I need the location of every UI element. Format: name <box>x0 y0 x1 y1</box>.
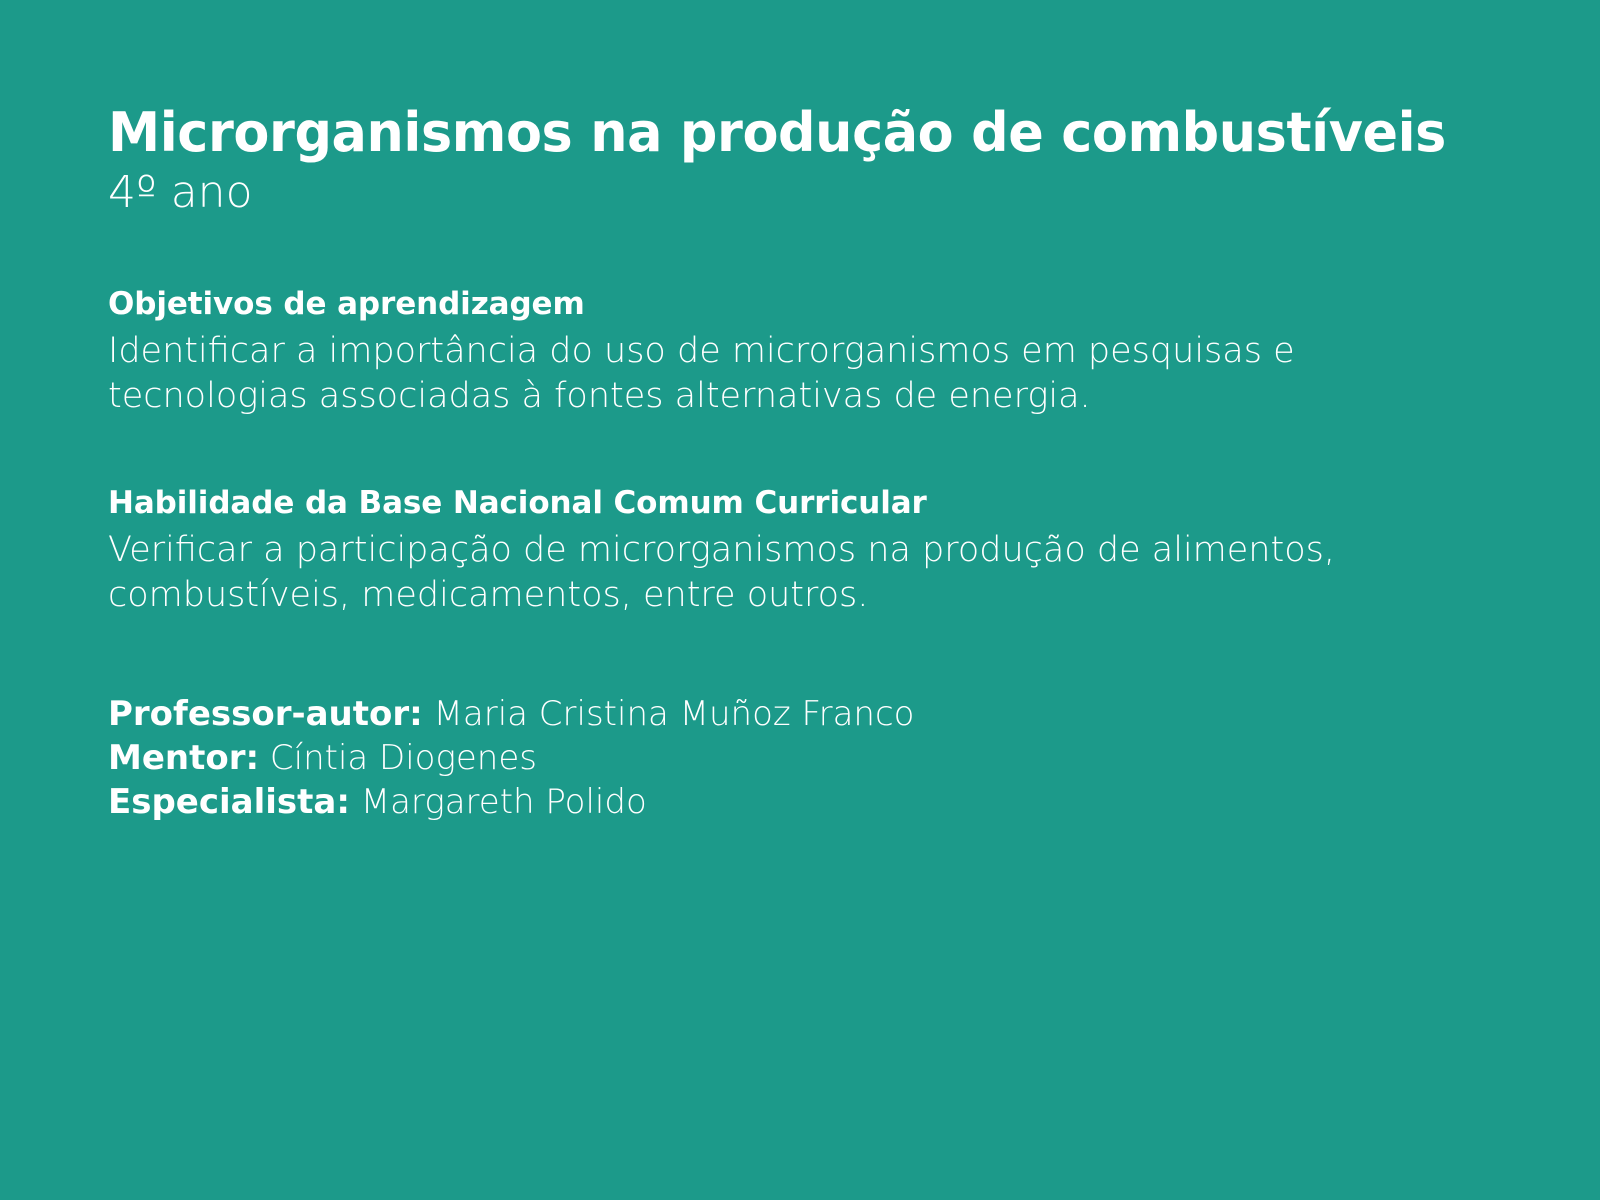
page-subtitle: 4º ano <box>108 166 1488 220</box>
credit-value-mentor: Cíntia Diogenes <box>270 738 537 778</box>
credits-block: Professor-autor: Maria Cristina Muñoz Fr… <box>108 692 1488 825</box>
credit-mentor: Mentor: Cíntia Diogenes <box>108 736 1488 780</box>
credit-label-professor-autor: Professor-autor: <box>108 694 423 734</box>
credit-value-especialista: Margareth Polido <box>361 782 647 822</box>
credit-especialista: Especialista: Margareth Polido <box>108 780 1488 824</box>
credit-label-mentor: Mentor: <box>108 738 259 778</box>
slide-canvas: Microrganismos na produção de combustíve… <box>0 0 1600 1200</box>
page-title: Microrganismos na produção de combustíve… <box>108 104 1447 162</box>
section-body-bncc: Verificar a participação de microrganism… <box>108 528 1378 618</box>
section-heading-objetivos: Objetivos de aprendizagem <box>108 286 1488 323</box>
section-body-objetivos: Identificar a importância do uso de micr… <box>108 329 1378 419</box>
credit-value-professor-autor: Maria Cristina Muñoz Franco <box>434 694 915 734</box>
section-objetivos: Objetivos de aprendizagem Identificar a … <box>108 286 1488 419</box>
credit-label-especialista: Especialista: <box>108 782 350 822</box>
slide-content: Microrganismos na produção de combustíve… <box>108 104 1488 824</box>
section-bncc: Habilidade da Base Nacional Comum Curric… <box>108 485 1488 618</box>
section-heading-bncc: Habilidade da Base Nacional Comum Curric… <box>108 485 1488 522</box>
credit-professor-autor: Professor-autor: Maria Cristina Muñoz Fr… <box>108 692 1488 736</box>
